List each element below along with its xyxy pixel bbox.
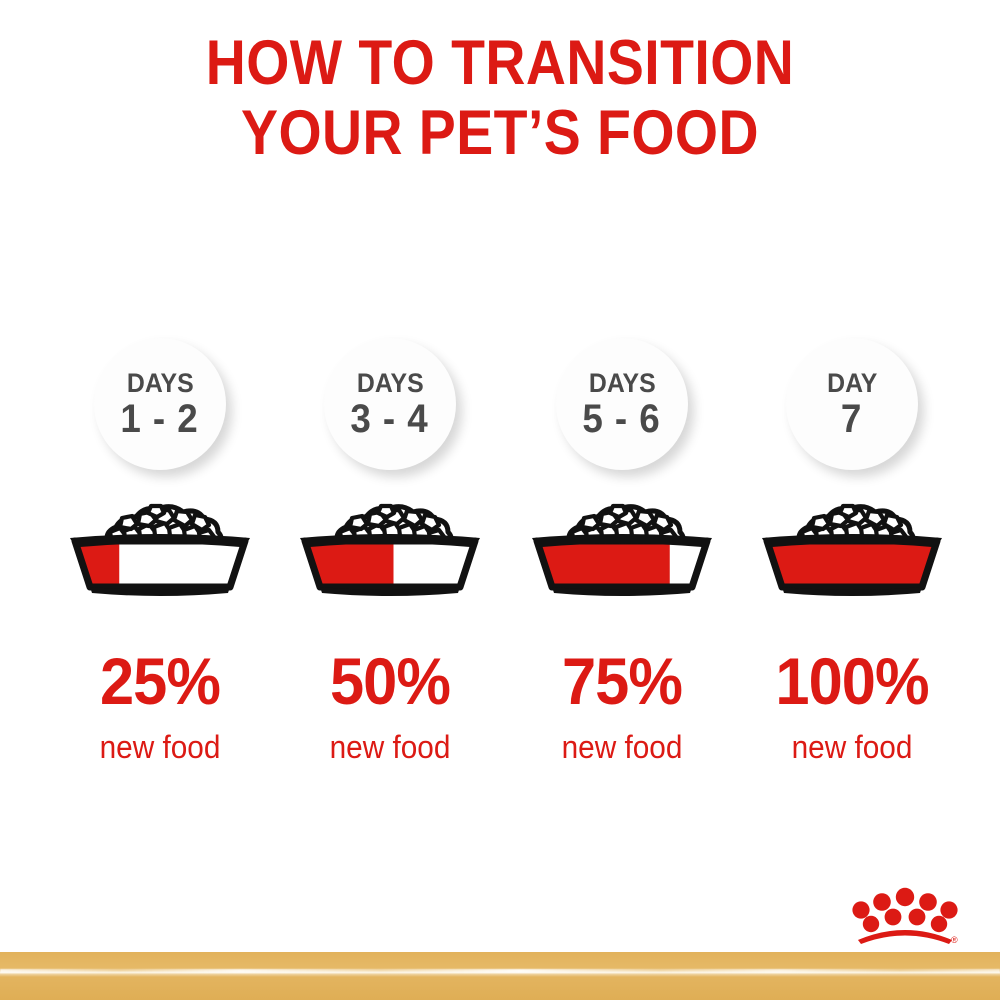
transition-step-3: DAYS 5 - 6	[504, 0, 740, 1000]
food-bowl-illustration-4	[742, 494, 962, 596]
day-badge-number-1: 1 - 2	[121, 398, 199, 441]
gold-footer-bar	[0, 952, 1000, 1000]
day-badge-number-2: 3 - 4	[351, 398, 429, 441]
transition-step-2: DAYS 3 - 4	[272, 0, 508, 1000]
percent-value-1: 25%	[50, 648, 269, 714]
percent-label-3: new food	[512, 729, 731, 765]
percent-label-2: new food	[280, 729, 499, 765]
day-badge-word-1: DAYS	[127, 368, 194, 398]
percent-value-2: 50%	[280, 648, 499, 714]
percent-label-4: new food	[742, 729, 961, 765]
registered-trademark-mark: ®	[951, 935, 958, 945]
transition-step-1: DAYS 1 - 2	[42, 0, 278, 1000]
infographic-root: HOW TO TRANSITION YOUR PET’S FOOD DAYS 1…	[0, 0, 1000, 1000]
food-bowl-illustration-3	[512, 494, 732, 596]
day-badge-4: DAY 7	[786, 338, 918, 470]
transition-step-4: DAY 7	[734, 0, 970, 1000]
day-badge-3: DAYS 5 - 6	[556, 338, 688, 470]
percent-block-2: 50% new food	[272, 648, 508, 765]
food-bowl-illustration-2	[280, 494, 500, 596]
royal-canin-crown-logo: ®	[852, 884, 958, 946]
percent-value-4: 100%	[742, 648, 961, 714]
day-badge-number-3: 5 - 6	[583, 398, 661, 441]
day-badge-number-4: 7	[841, 398, 862, 441]
day-badge-word-2: DAYS	[357, 368, 424, 398]
gold-bar-highlight-streak	[0, 969, 1000, 973]
percent-block-1: 25% new food	[42, 648, 278, 765]
steps-container: DAYS 1 - 2	[0, 0, 1000, 1000]
percent-label-1: new food	[50, 729, 269, 765]
percent-block-4: 100% new food	[734, 648, 970, 765]
day-badge-1: DAYS 1 - 2	[94, 338, 226, 470]
day-badge-word-3: DAYS	[589, 368, 656, 398]
food-bowl-illustration-1	[50, 494, 270, 596]
day-badge-2: DAYS 3 - 4	[324, 338, 456, 470]
percent-value-3: 75%	[512, 648, 731, 714]
percent-block-3: 75% new food	[504, 648, 740, 765]
day-badge-word-4: DAY	[827, 368, 877, 398]
